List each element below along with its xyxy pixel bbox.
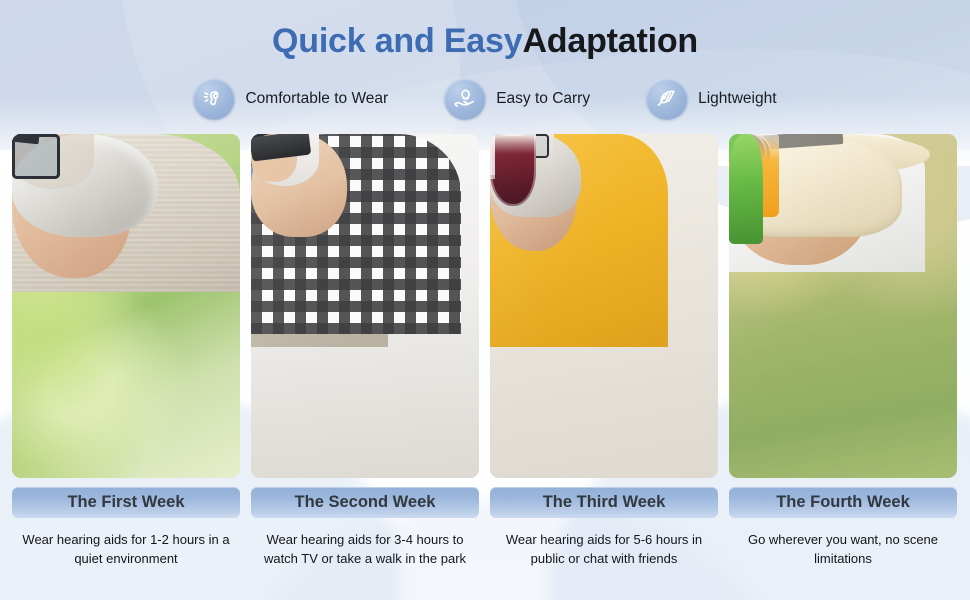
week-label-bar: The First Week xyxy=(12,487,240,518)
feature-list: Comfortable to Wear Easy to Carry xyxy=(0,78,970,120)
week-card-second[interactable]: The Second Week Wear hearing aids for 3-… xyxy=(251,134,479,569)
week-label-bar: The Fourth Week xyxy=(729,487,957,518)
week-label-bar: The Second Week xyxy=(251,487,479,518)
week-card-fourth[interactable]: The Fourth Week Go wherever you want, no… xyxy=(729,134,957,569)
week-photo-first-week xyxy=(12,134,240,478)
week-label-text: The Fourth Week xyxy=(776,493,910,512)
week-card-list: The First Week Wear hearing aids for 1-2… xyxy=(12,134,958,569)
week-label-text: The Second Week xyxy=(295,493,436,512)
week-label-text: The First Week xyxy=(67,493,184,512)
feature-label: Lightweight xyxy=(698,90,776,108)
feature-label: Easy to Carry xyxy=(496,90,590,108)
feature-label: Comfortable to Wear xyxy=(245,90,388,108)
week-label-bar: The Third Week xyxy=(490,487,718,518)
page-title: Quick and EasyAdaptation xyxy=(0,22,970,61)
week-label-text: The Third Week xyxy=(543,493,666,512)
week-caption: Wear hearing aids for 5-6 hours in publi… xyxy=(490,531,718,569)
week-photo-third-week xyxy=(490,134,718,478)
week-card-third[interactable]: The Third Week Wear hearing aids for 5-6… xyxy=(490,134,718,569)
week-caption: Wear hearing aids for 1-2 hours in a qui… xyxy=(12,531,240,569)
feature-item-comfortable-to-wear: Comfortable to Wear xyxy=(193,78,388,120)
hand-holding-icon xyxy=(444,78,486,120)
page-title-accent: Quick and Easy xyxy=(272,22,522,60)
week-card-first[interactable]: The First Week Wear hearing aids for 1-2… xyxy=(12,134,240,569)
feature-item-lightweight: Lightweight xyxy=(646,78,776,120)
week-photo-fourth-week xyxy=(729,134,957,478)
week-caption: Wear hearing aids for 3-4 hours to watch… xyxy=(251,531,479,569)
promo-banner-page: Quick and EasyAdaptation Comfortable to … xyxy=(0,0,970,600)
page-title-plain: Adaptation xyxy=(522,22,698,60)
week-photo-second-week xyxy=(251,134,479,478)
feather-icon xyxy=(646,78,688,120)
feature-item-easy-to-carry: Easy to Carry xyxy=(444,78,590,120)
ear-sound-icon xyxy=(193,78,235,120)
week-caption: Go wherever you want, no scene limitatio… xyxy=(729,531,957,569)
